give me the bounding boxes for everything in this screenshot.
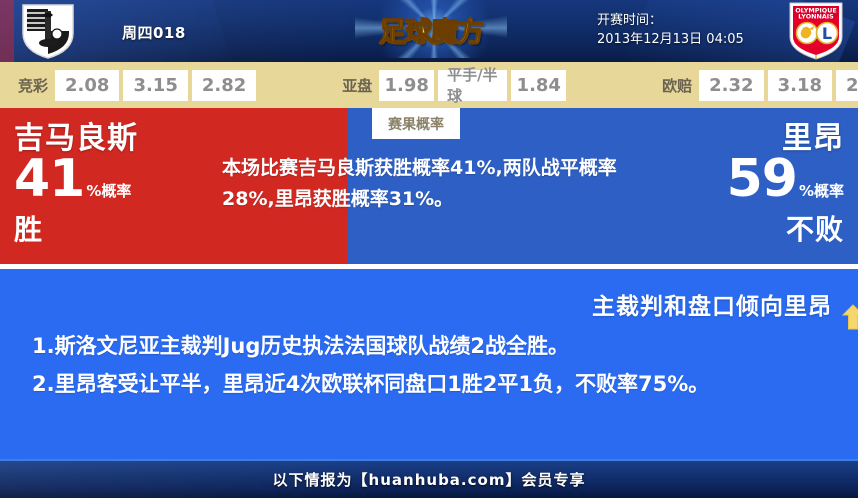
footer-notice: 以下情报为【huanhuba.com】会员专享 <box>273 469 586 490</box>
probability-description: 本场比赛吉马良斯获胜概率41%,两队战平概率28%,里昂获胜概率31%。 <box>222 153 634 215</box>
away-percent-suffix: %概率 <box>799 168 844 214</box>
brand-logo-text: 足球魔方 <box>379 10 483 49</box>
odds-cell[interactable]: 2.32 <box>699 70 763 101</box>
away-percent-value: 59 <box>727 156 797 202</box>
vitoria-guimaraes-crest <box>19 3 77 60</box>
odds-cell[interactable]: 1.98 <box>379 70 434 101</box>
kickoff-label: 开赛时间： <box>597 11 744 30</box>
home-percent-line: 41 %概率 <box>14 156 138 214</box>
home-result-label: 胜 <box>14 214 138 246</box>
analysis-points: 1.斯洛文尼亚主裁判Jug历史执法法国球队战绩2战全胜。 2.里昂客受让平半，里… <box>32 327 830 403</box>
odds-cell[interactable]: 2.08 <box>55 70 119 101</box>
odds-group-label: 竞彩 <box>18 75 48 96</box>
odds-cell-handicap[interactable]: 平手/半球 <box>438 70 507 101</box>
kickoff-info: 开赛时间： 2013年12月13日 04:05 <box>597 11 744 49</box>
odds-group-label: 亚盘 <box>342 75 372 96</box>
kickoff-time: 2013年12月13日 04:05 <box>597 30 744 49</box>
brand-logo[interactable]: 足球魔方 <box>355 0 507 58</box>
odds-cell[interactable]: 2.95 <box>836 70 858 101</box>
footer-bar: 以下情报为【huanhuba.com】会员专享 <box>0 459 858 498</box>
analysis-point: 2.里昂客受让平半，里昂近4次欧联杯同盘口1胜2平1负，不败率75%。 <box>32 365 830 403</box>
match-round-label: 周四018 <box>122 22 186 43</box>
olympique-lyonnais-crest: OLYMPIQUE LYONNAIS L <box>778 1 854 61</box>
odds-cell[interactable]: 1.84 <box>511 70 566 101</box>
home-percent-suffix: %概率 <box>86 168 131 214</box>
analysis-point: 1.斯洛文尼亚主裁判Jug历史执法法国球队战绩2战全胜。 <box>32 327 830 365</box>
match-preview-card: 周四018 足球魔方 开赛时间： 2013年12月13日 04:05 OLYMP… <box>0 0 858 498</box>
svg-text:LYONNAIS: LYONNAIS <box>798 13 834 21</box>
header-bar: 周四018 足球魔方 开赛时间： 2013年12月13日 04:05 OLYMP… <box>0 0 858 62</box>
odds-group-label: 欧赔 <box>662 75 692 96</box>
probability-section: 吉马良斯 41 %概率 胜 里昂 59 %概率 不败 赛果概率 本场比赛吉马良斯… <box>0 108 858 264</box>
away-result-label: 不败 <box>727 214 844 246</box>
odds-bar: 竞彩 2.08 3.15 2.82 亚盘 1.98 平手/半球 1.84 欧赔 … <box>0 62 858 108</box>
away-percent-line: 59 %概率 <box>727 156 844 214</box>
odds-group-oupei: 欧赔 2.32 3.18 2.95 <box>662 70 858 101</box>
away-team-block: 里昂 59 %概率 不败 <box>727 122 844 246</box>
analysis-headline-row: 主裁判和盘口倾向里昂 <box>592 287 842 321</box>
home-team-block: 吉马良斯 41 %概率 胜 <box>14 122 138 246</box>
odds-group-yapan: 亚盘 1.98 平手/半球 1.84 <box>342 70 570 101</box>
analysis-headline: 主裁判和盘口倾向里昂 <box>592 287 832 321</box>
home-percent-value: 41 <box>14 156 84 202</box>
svg-text:L: L <box>822 24 832 43</box>
tab-result-probability[interactable]: 赛果概率 <box>372 108 460 139</box>
odds-cell[interactable]: 2.82 <box>192 70 256 101</box>
analysis-section: 主裁判和盘口倾向里昂 1.斯洛文尼亚主裁判Jug历史执法法国球队战绩2战全胜。 … <box>0 269 858 459</box>
odds-group-jingcai: 竞彩 2.08 3.15 2.82 <box>18 70 260 101</box>
odds-cell[interactable]: 3.18 <box>768 70 832 101</box>
odds-cell[interactable]: 3.15 <box>123 70 187 101</box>
